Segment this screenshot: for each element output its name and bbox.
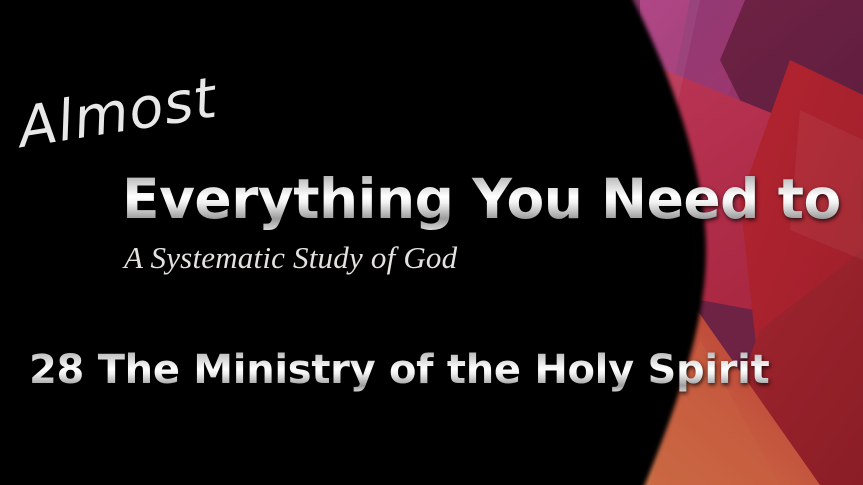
slide-text-layer: Almost Everything You Need to Know A Sys… <box>0 0 863 485</box>
lesson-heading: 28 The Ministry of the Holy Spirit <box>29 347 769 393</box>
subtitle: A Systematic Study of God <box>124 240 457 276</box>
presentation-slide: Almost Everything You Need to Know A Sys… <box>0 0 863 485</box>
script-accent-word: Almost <box>14 66 222 161</box>
page-title: Everything You Need to Know <box>122 168 863 230</box>
